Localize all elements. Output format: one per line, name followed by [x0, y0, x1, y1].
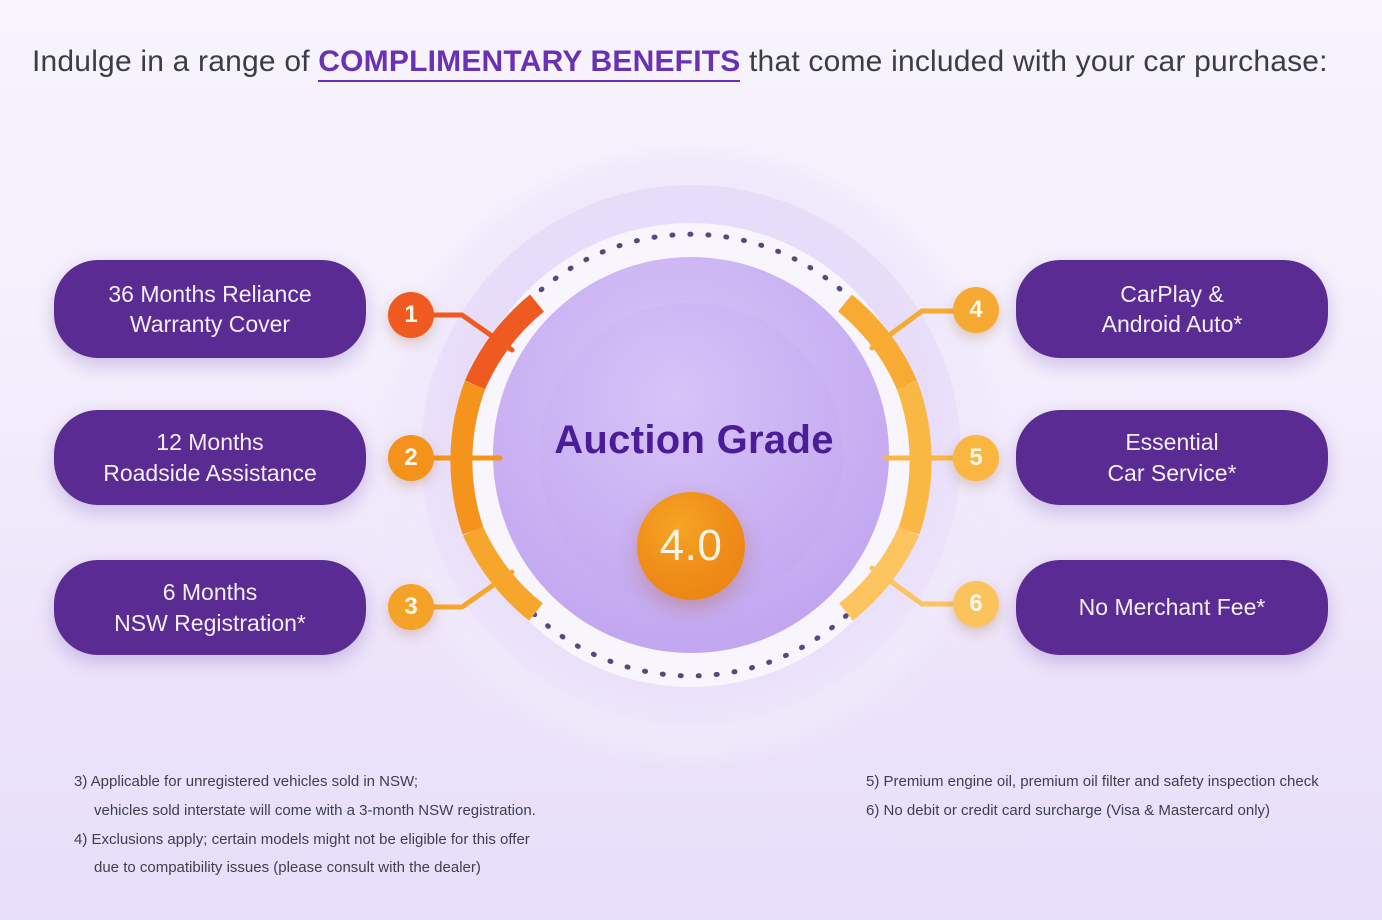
benefit-label-3: 6 MonthsNSW Registration*: [114, 577, 306, 638]
footnotes-right: 5) Premium engine oil, premium oil filte…: [866, 768, 1376, 826]
grade-value-circle: 4.0: [637, 492, 745, 600]
benefit-badge-2[interactable]: 2: [388, 435, 434, 481]
auction-grade-label: Auction Grade: [494, 418, 894, 463]
benefit-pill-5[interactable]: EssentialCar Service*: [1016, 410, 1328, 505]
benefit-badge-5[interactable]: 5: [953, 435, 999, 481]
grade-value: 4.0: [660, 524, 723, 568]
footnotes-left: 3) Applicable for unregistered vehicles …: [74, 768, 634, 883]
benefit-pill-1[interactable]: 36 Months RelianceWarranty Cover: [54, 260, 366, 358]
benefit-badge-3[interactable]: 3: [388, 584, 434, 630]
footnote-line: 6) No debit or credit card surcharge (Vi…: [866, 797, 1376, 826]
footnote-line: vehicles sold interstate will come with …: [74, 797, 634, 826]
benefit-label-5: EssentialCar Service*: [1107, 427, 1236, 488]
footnote-line: 4) Exclusions apply; certain models migh…: [74, 826, 634, 855]
benefit-pill-4[interactable]: CarPlay &Android Auto*: [1016, 260, 1328, 358]
benefit-label-6: No Merchant Fee*: [1079, 592, 1266, 622]
footnote-line: 5) Premium engine oil, premium oil filte…: [866, 768, 1376, 797]
benefit-pill-2[interactable]: 12 MonthsRoadside Assistance: [54, 410, 366, 505]
infographic-canvas: Indulge in a range of COMPLIMENTARY BENE…: [0, 0, 1382, 920]
benefit-badge-4[interactable]: 4: [953, 287, 999, 333]
benefit-label-2: 12 MonthsRoadside Assistance: [103, 427, 317, 488]
benefit-badge-1[interactable]: 1: [388, 292, 434, 338]
benefit-badge-6[interactable]: 6: [953, 581, 999, 627]
benefit-label-1: 36 Months RelianceWarranty Cover: [108, 279, 311, 340]
benefit-pill-6[interactable]: No Merchant Fee*: [1016, 560, 1328, 655]
footnote-line: due to compatibility issues (please cons…: [74, 854, 634, 883]
footnote-line: 3) Applicable for unregistered vehicles …: [74, 768, 634, 797]
benefit-pill-3[interactable]: 6 MonthsNSW Registration*: [54, 560, 366, 655]
benefit-label-4: CarPlay &Android Auto*: [1102, 279, 1243, 340]
